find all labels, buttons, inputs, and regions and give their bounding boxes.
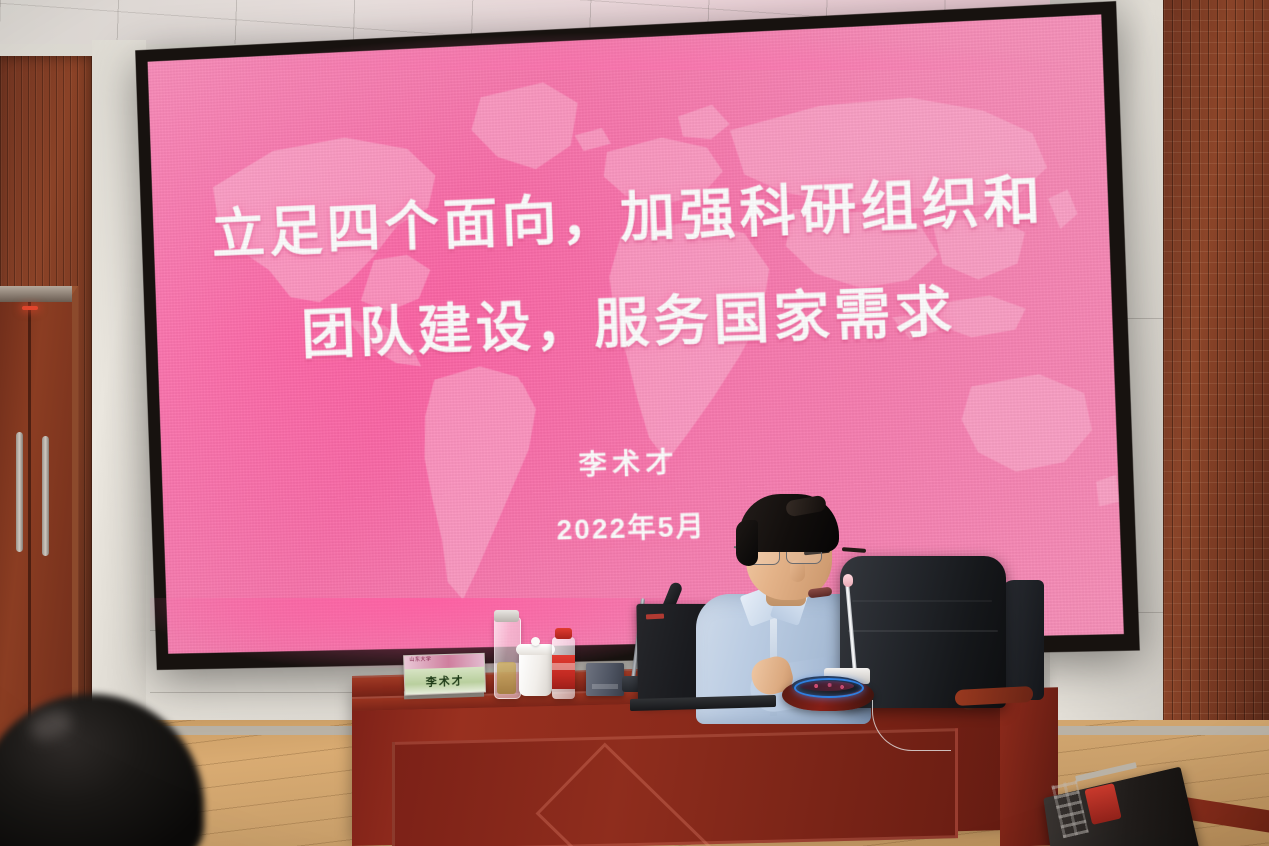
photo-stage: 立足四个面向，加强科研组织和 团队建设，服务国家需求 李术才 2022年5月 山… (0, 0, 1269, 846)
thermos-cap[interactable] (494, 610, 519, 622)
door-indicator-light-icon (22, 306, 38, 310)
chair-seam (848, 630, 998, 632)
grey-device-box[interactable] (586, 663, 624, 696)
water-bottle-cap[interactable] (555, 628, 572, 639)
nameplate-header-text: 山东大学 (404, 654, 484, 663)
slide-author: 李术才 (578, 440, 680, 483)
speaker-eyebrow-right (842, 547, 866, 553)
door-lintel (0, 286, 72, 302)
laptop-logo (646, 614, 664, 620)
thermos-tea-leaves (497, 662, 516, 694)
chair-seam (852, 600, 992, 602)
slide-date: 2022年5月 (556, 504, 707, 548)
speakerphone-led-ring (794, 678, 864, 698)
nameplate: 山东大学 李术才 (403, 653, 486, 696)
speaker-hair-side (736, 520, 758, 566)
slide-title-line-1: 立足四个面向，加强科研组织和 (211, 174, 1046, 262)
water-bottle-label-highlight (552, 663, 575, 670)
white-teacup[interactable] (519, 650, 552, 696)
device-box-label (592, 684, 618, 689)
nameplate-name: 李术才 (425, 672, 464, 689)
nameplate-body: 李术才 (405, 667, 485, 695)
door[interactable] (0, 286, 78, 765)
microphone-head-icon[interactable] (843, 574, 853, 587)
teacup-lid-knob[interactable] (531, 637, 540, 646)
water-bottle-label (552, 655, 575, 689)
door-handle[interactable] (16, 432, 23, 552)
slide-title-line-2: 团队建设，服务国家需求 (301, 285, 958, 363)
chair-right-side (1000, 580, 1044, 700)
door-split-line (28, 295, 31, 765)
door-handle[interactable] (42, 436, 49, 556)
